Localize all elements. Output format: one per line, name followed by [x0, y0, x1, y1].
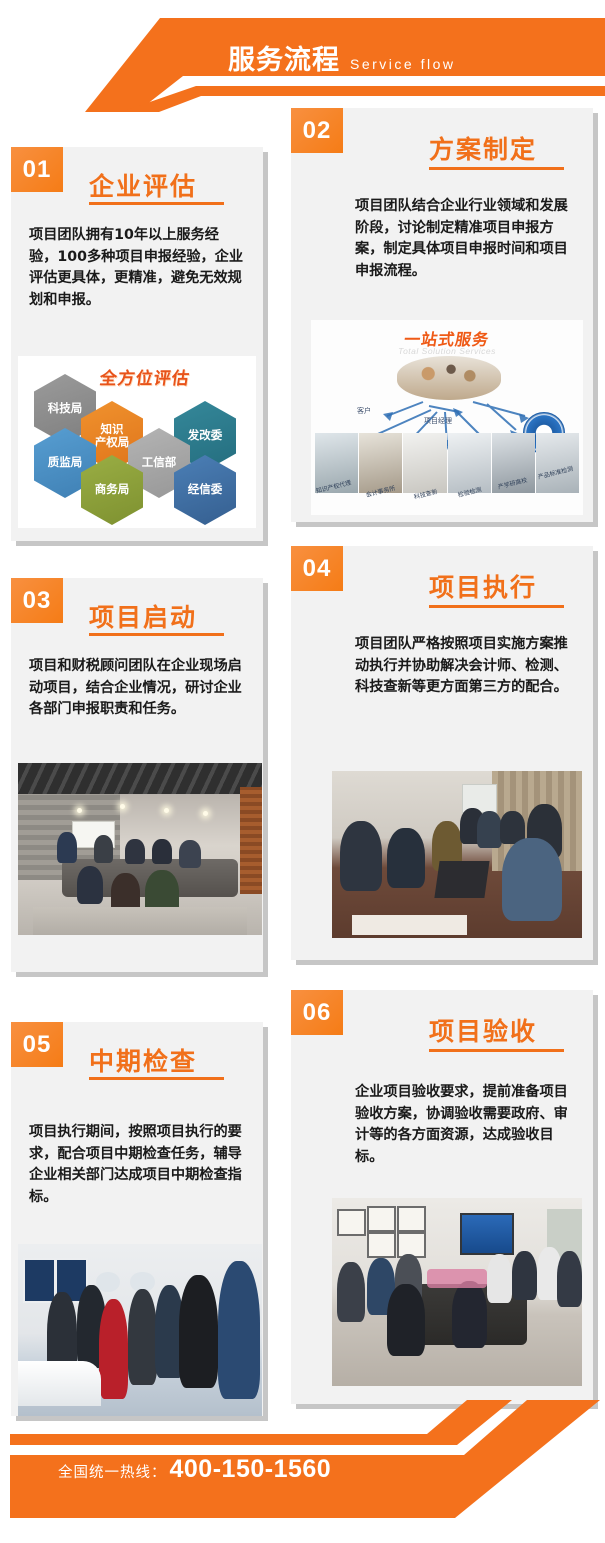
photo-person	[77, 866, 104, 904]
photo-person	[152, 839, 172, 865]
title-underline	[89, 633, 224, 636]
photo-certificate-frame	[337, 1209, 366, 1236]
photo-person	[337, 1262, 365, 1322]
strip-cell	[536, 433, 579, 493]
card-title: 中期检查	[89, 1042, 197, 1078]
photo-person	[452, 1281, 487, 1349]
photo-acceptance-conference	[332, 1198, 582, 1386]
hex-node-label: 质监局	[48, 456, 83, 469]
strip-cell	[403, 433, 446, 493]
hex-node-label: 工信部	[142, 456, 177, 469]
one-stop-service-diagram: 一站式服务 Total Solution Services	[311, 320, 583, 515]
photo-certificate-frame	[367, 1206, 396, 1233]
photo-meeting-room-kickoff	[18, 763, 262, 935]
photo-monitor	[23, 1258, 56, 1303]
title-underline	[429, 605, 564, 608]
title-underline	[89, 202, 224, 205]
title-underline	[429, 167, 564, 170]
process-card-02: 02 方案制定 项目团队结合企业行业领域和发展阶段，讨论制定精准项目申报方案，制…	[291, 108, 599, 528]
photo-reception-desk	[18, 1361, 101, 1406]
process-card-05: 05 中期检查 项目执行期间，按照项目执行的要求，配合项目中期检查任务，辅导企业…	[11, 1022, 269, 1422]
photo-person	[218, 1261, 259, 1399]
photo-person-red-coat	[99, 1299, 128, 1399]
card-number-badge: 01	[11, 147, 63, 192]
photo-person	[512, 1251, 537, 1300]
header-banner: 服务流程 Service flow	[0, 0, 605, 112]
card-title: 项目执行	[429, 568, 537, 604]
photo-wood-panel	[240, 787, 262, 894]
card-title: 企业评估	[89, 167, 197, 203]
card-description: 项目和财税顾问团队在企业现场启动项目，结合企业情况，研讨企业各部门申报职责和任务…	[29, 656, 249, 721]
card-description: 项目团队严格按照项目实施方案推动执行并协助解决会计师、检测、科技查新等更方面第三…	[355, 634, 580, 699]
header-title-cn: 服务流程	[228, 38, 340, 77]
hex-node-label: 科技局	[48, 402, 83, 415]
photo-person	[179, 1275, 218, 1389]
onestop-node-manager: 项目经理	[424, 416, 452, 426]
card-number-badge: 05	[11, 1022, 63, 1067]
photo-person	[502, 838, 562, 922]
photo-team-working-desks	[332, 771, 582, 938]
photo-person	[128, 1289, 157, 1385]
photo-light	[77, 808, 82, 813]
title-underline	[89, 1077, 224, 1080]
photo-floor	[33, 907, 248, 935]
photo-person	[477, 811, 502, 848]
photo-certificate-frame	[367, 1232, 396, 1259]
onestop-photo-strip	[315, 433, 579, 493]
card-title: 方案制定	[429, 130, 537, 166]
photo-person	[94, 835, 114, 863]
process-card-06: 06 项目验收 企业项目验收要求，提前准备项目验收方案，协调验收需要政府、审计等…	[291, 990, 599, 1410]
strip-cell	[359, 433, 402, 493]
photo-laptop	[434, 861, 489, 898]
card-number-badge: 06	[291, 990, 343, 1035]
photo-ceiling	[18, 763, 262, 794]
hex-node-label: 发改委	[188, 429, 223, 442]
card-number-badge: 02	[291, 108, 343, 153]
photo-person	[340, 821, 383, 891]
photo-person	[487, 1254, 512, 1303]
photo-flowers	[427, 1269, 487, 1288]
photo-papers	[352, 915, 467, 935]
card-description: 企业项目验收要求，提前准备项目验收方案，协调验收需要政府、审计等的各方面资源，达…	[355, 1082, 577, 1168]
card-description: 项目执行期间，按照项目执行的要求，配合项目中期检查任务，辅导企业相关部门达成项目…	[29, 1122, 249, 1208]
photo-person	[557, 1251, 582, 1307]
photo-person	[387, 828, 425, 888]
photo-projector-screen	[460, 1213, 514, 1255]
photo-certificate-frame	[397, 1206, 426, 1233]
hex-node-label: 商务局	[95, 483, 130, 496]
hexagon-assessment-chart: 全方位评估 科技局 知识 产权局 发改委 质监局 工信部 商务局 经信委	[18, 356, 256, 528]
card-title: 项目验收	[429, 1012, 537, 1048]
card-title: 项目启动	[89, 598, 197, 634]
footer-banner: 全国统一热线： 400-150-1560	[0, 1400, 605, 1538]
process-card-04: 04 项目执行 项目团队严格按照项目实施方案推动执行并协助解决会计师、检测、科技…	[291, 546, 599, 966]
footer-hotline: 全国统一热线： 400-150-1560	[58, 1455, 331, 1484]
photo-person	[387, 1284, 425, 1355]
card-description: 项目团队结合企业行业领域和发展阶段，讨论制定精准项目申报方案，制定具体项目申报时…	[355, 196, 575, 282]
process-card-03: 03 项目启动 项目和财税顾问团队在企业现场启动项目，结合企业情况，研讨企业各部…	[11, 578, 269, 978]
hex-node-label: 经信委	[188, 483, 223, 496]
card-description: 项目团队拥有10年以上服务经验，100多种项目申报经验，企业评估更具体，更精准，…	[29, 225, 247, 311]
header-title-en: Service flow	[350, 56, 455, 72]
photo-person	[179, 840, 201, 868]
card-number-badge: 03	[11, 578, 63, 623]
photo-person	[57, 832, 77, 863]
footer-hotline-number[interactable]: 400-150-1560	[170, 1455, 332, 1484]
process-card-01: 01 企业评估 项目团队拥有10年以上服务经验，100多种项目申报经验，企业评估…	[11, 147, 269, 547]
title-underline	[429, 1049, 564, 1052]
photo-onsite-inspection	[18, 1244, 262, 1416]
hex-chart-title: 全方位评估	[98, 364, 192, 389]
onestop-node-customer: 客户	[357, 406, 371, 416]
photo-person	[125, 839, 145, 865]
card-number-badge: 04	[291, 546, 343, 591]
strip-cell	[448, 433, 491, 493]
footer-hotline-label: 全国统一热线：	[58, 1461, 167, 1482]
hex-node-label: 知识 产权局	[95, 423, 130, 449]
header-title: 服务流程 Service flow	[228, 38, 455, 77]
